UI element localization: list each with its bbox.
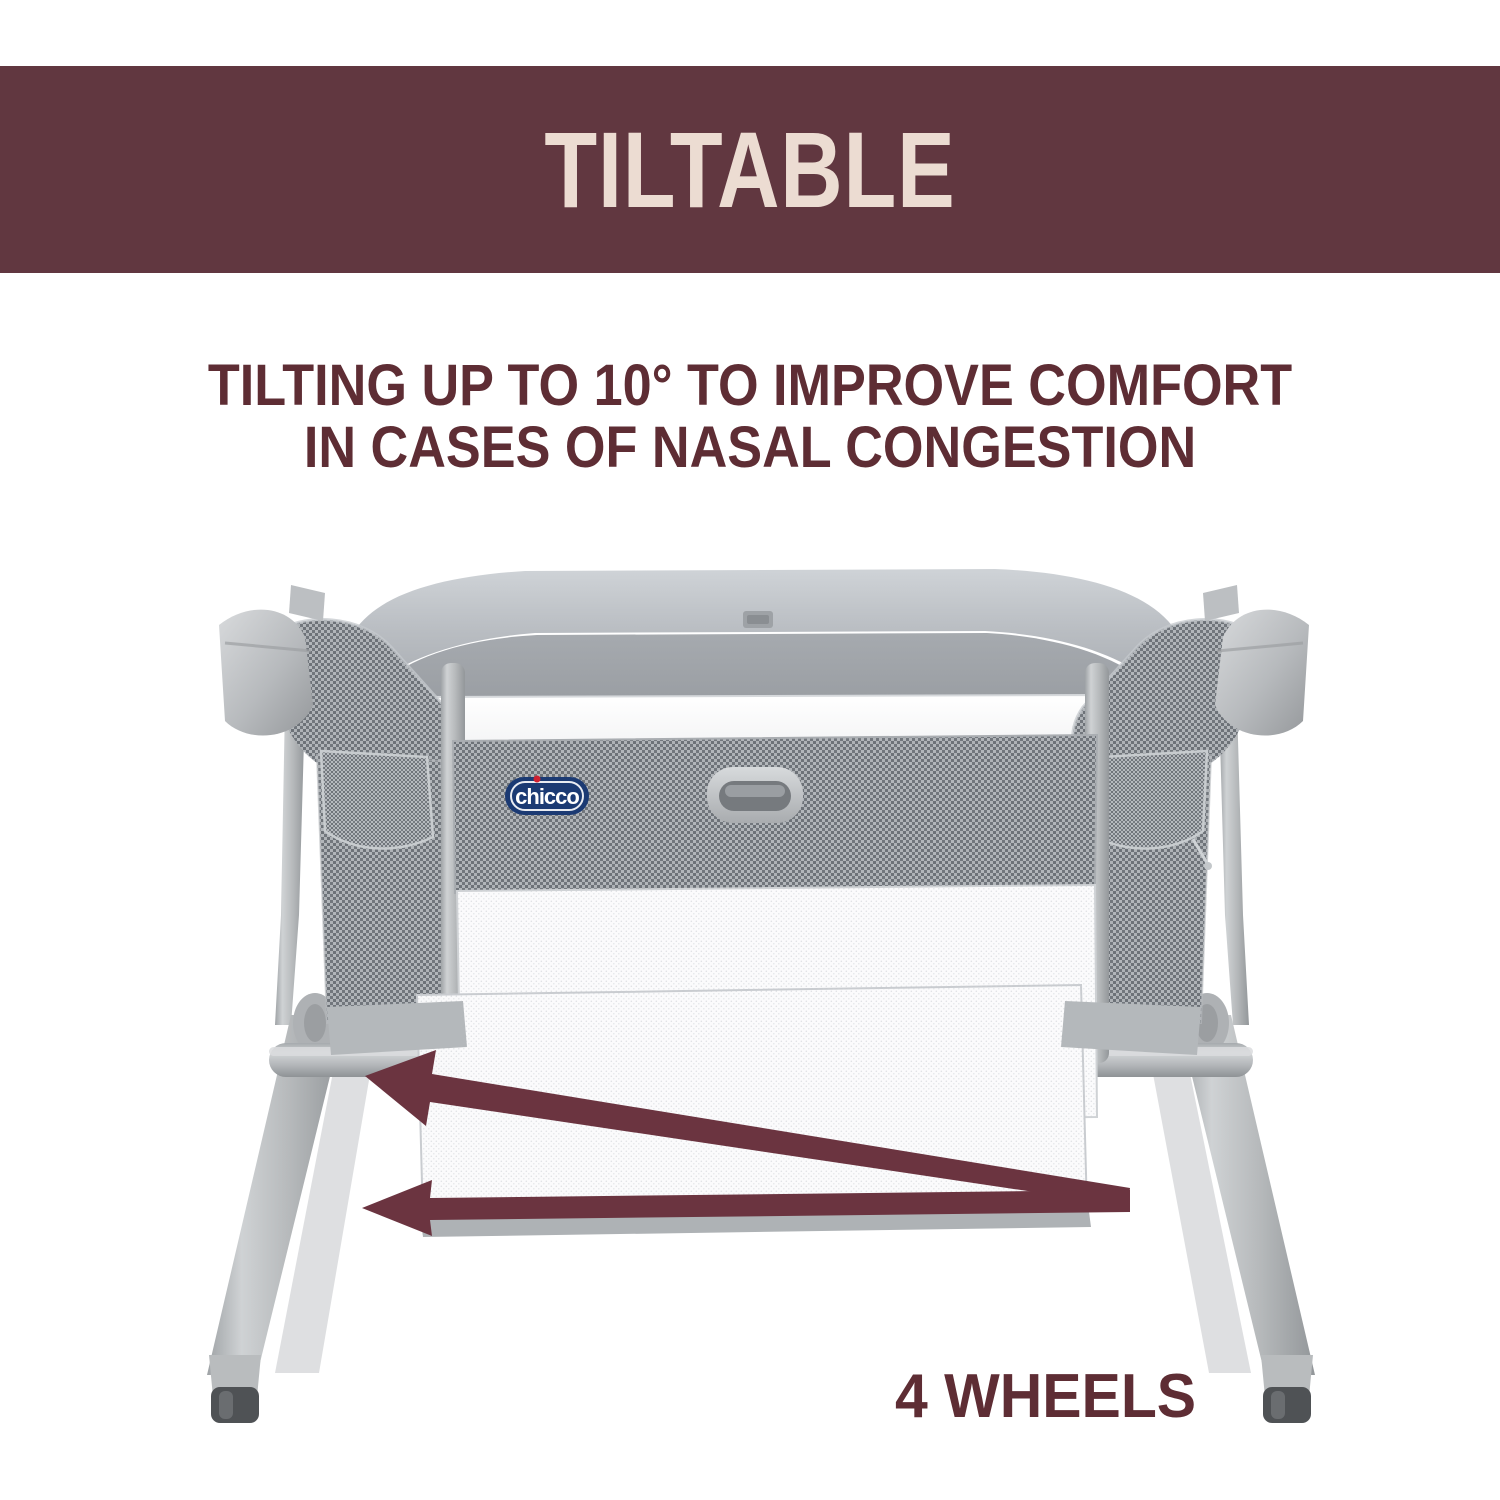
svg-text:chicco: chicco — [515, 784, 579, 809]
tilt-arrow-upper — [365, 1050, 1130, 1206]
subtitle-line-2: IN CASES OF NASAL CONGESTION — [75, 417, 1425, 479]
infographic-page: TILTABLE TILTING UP TO 10° TO IMPROVE CO… — [0, 0, 1500, 1500]
chicco-logo: chicco — [505, 776, 589, 816]
subtitle-block: TILTING UP TO 10° TO IMPROVE COMFORT IN … — [0, 355, 1500, 479]
wheel-front-right — [1261, 1355, 1313, 1423]
header-banner: TILTABLE — [0, 66, 1500, 273]
wheel-front-left — [209, 1355, 261, 1423]
back-rim-tag — [743, 611, 773, 628]
latch-handle — [707, 767, 803, 823]
banner-title: TILTABLE — [544, 116, 955, 224]
product-image: chicco — [195, 555, 1325, 1435]
tilt-arrows — [340, 1040, 1160, 1240]
subtitle-line-1: TILTING UP TO 10° TO IMPROVE COMFORT — [75, 355, 1425, 417]
wheels-label: 4 WHEELS — [895, 1366, 1196, 1428]
